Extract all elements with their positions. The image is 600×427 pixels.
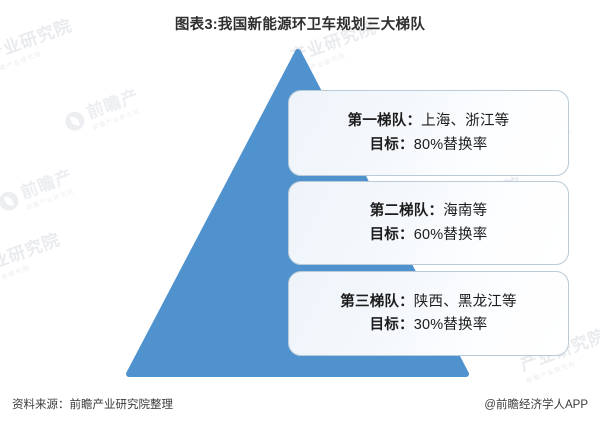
tier-3-goal-label: 目标： [370,317,414,333]
tier-3-goal: 目标：30%替换率 [370,318,488,333]
tier-3-goal-value: 30%替换率 [414,317,488,333]
tier-1-rank: 第一梯队：上海、浙江等 [348,114,510,129]
tier-card-2[interactable]: 第二梯队：海南等 目标：60%替换率 [288,181,569,265]
tier-1-goal-label: 目标： [370,137,414,153]
tier-3-rank-value: 陕西、黑龙江等 [414,294,517,310]
tier-card-1[interactable]: 第一梯队：上海、浙江等 目标：80%替换率 [288,90,569,176]
tier-2-goal-label: 目标： [370,227,414,243]
tier-1-rank-value: 上海、浙江等 [421,113,509,129]
source-note: 资料来源：前瞻产业研究院整理 [12,396,173,412]
tier-2-rank-label: 第二梯队： [370,203,444,219]
infographic-canvas: 产业研究院前瞻产业研究院 产业研究院前瞻产业研究院 产业研究院前瞻产业研究院 产… [0,0,600,427]
tier-2-goal-value: 60%替换率 [414,227,488,243]
tier-1-goal-value: 80%替换率 [414,137,488,153]
chart-title: 图表3:我国新能源环卫车规划三大梯队 [0,13,600,34]
tier-2-goal: 目标：60%替换率 [370,228,488,243]
tier-1-goal: 目标：80%替换率 [370,138,488,153]
tier-2-rank: 第二梯队：海南等 [370,204,488,219]
tier-3-rank: 第三梯队：陕西、黑龙江等 [340,295,516,310]
tier-1-rank-label: 第一梯队： [348,113,422,129]
tier-card-3[interactable]: 第三梯队：陕西、黑龙江等 目标：30%替换率 [288,271,569,356]
tier-3-rank-label: 第三梯队： [340,294,414,310]
app-credit: @前瞻经济学人APP [484,396,588,412]
tier-2-rank-value: 海南等 [443,203,487,219]
